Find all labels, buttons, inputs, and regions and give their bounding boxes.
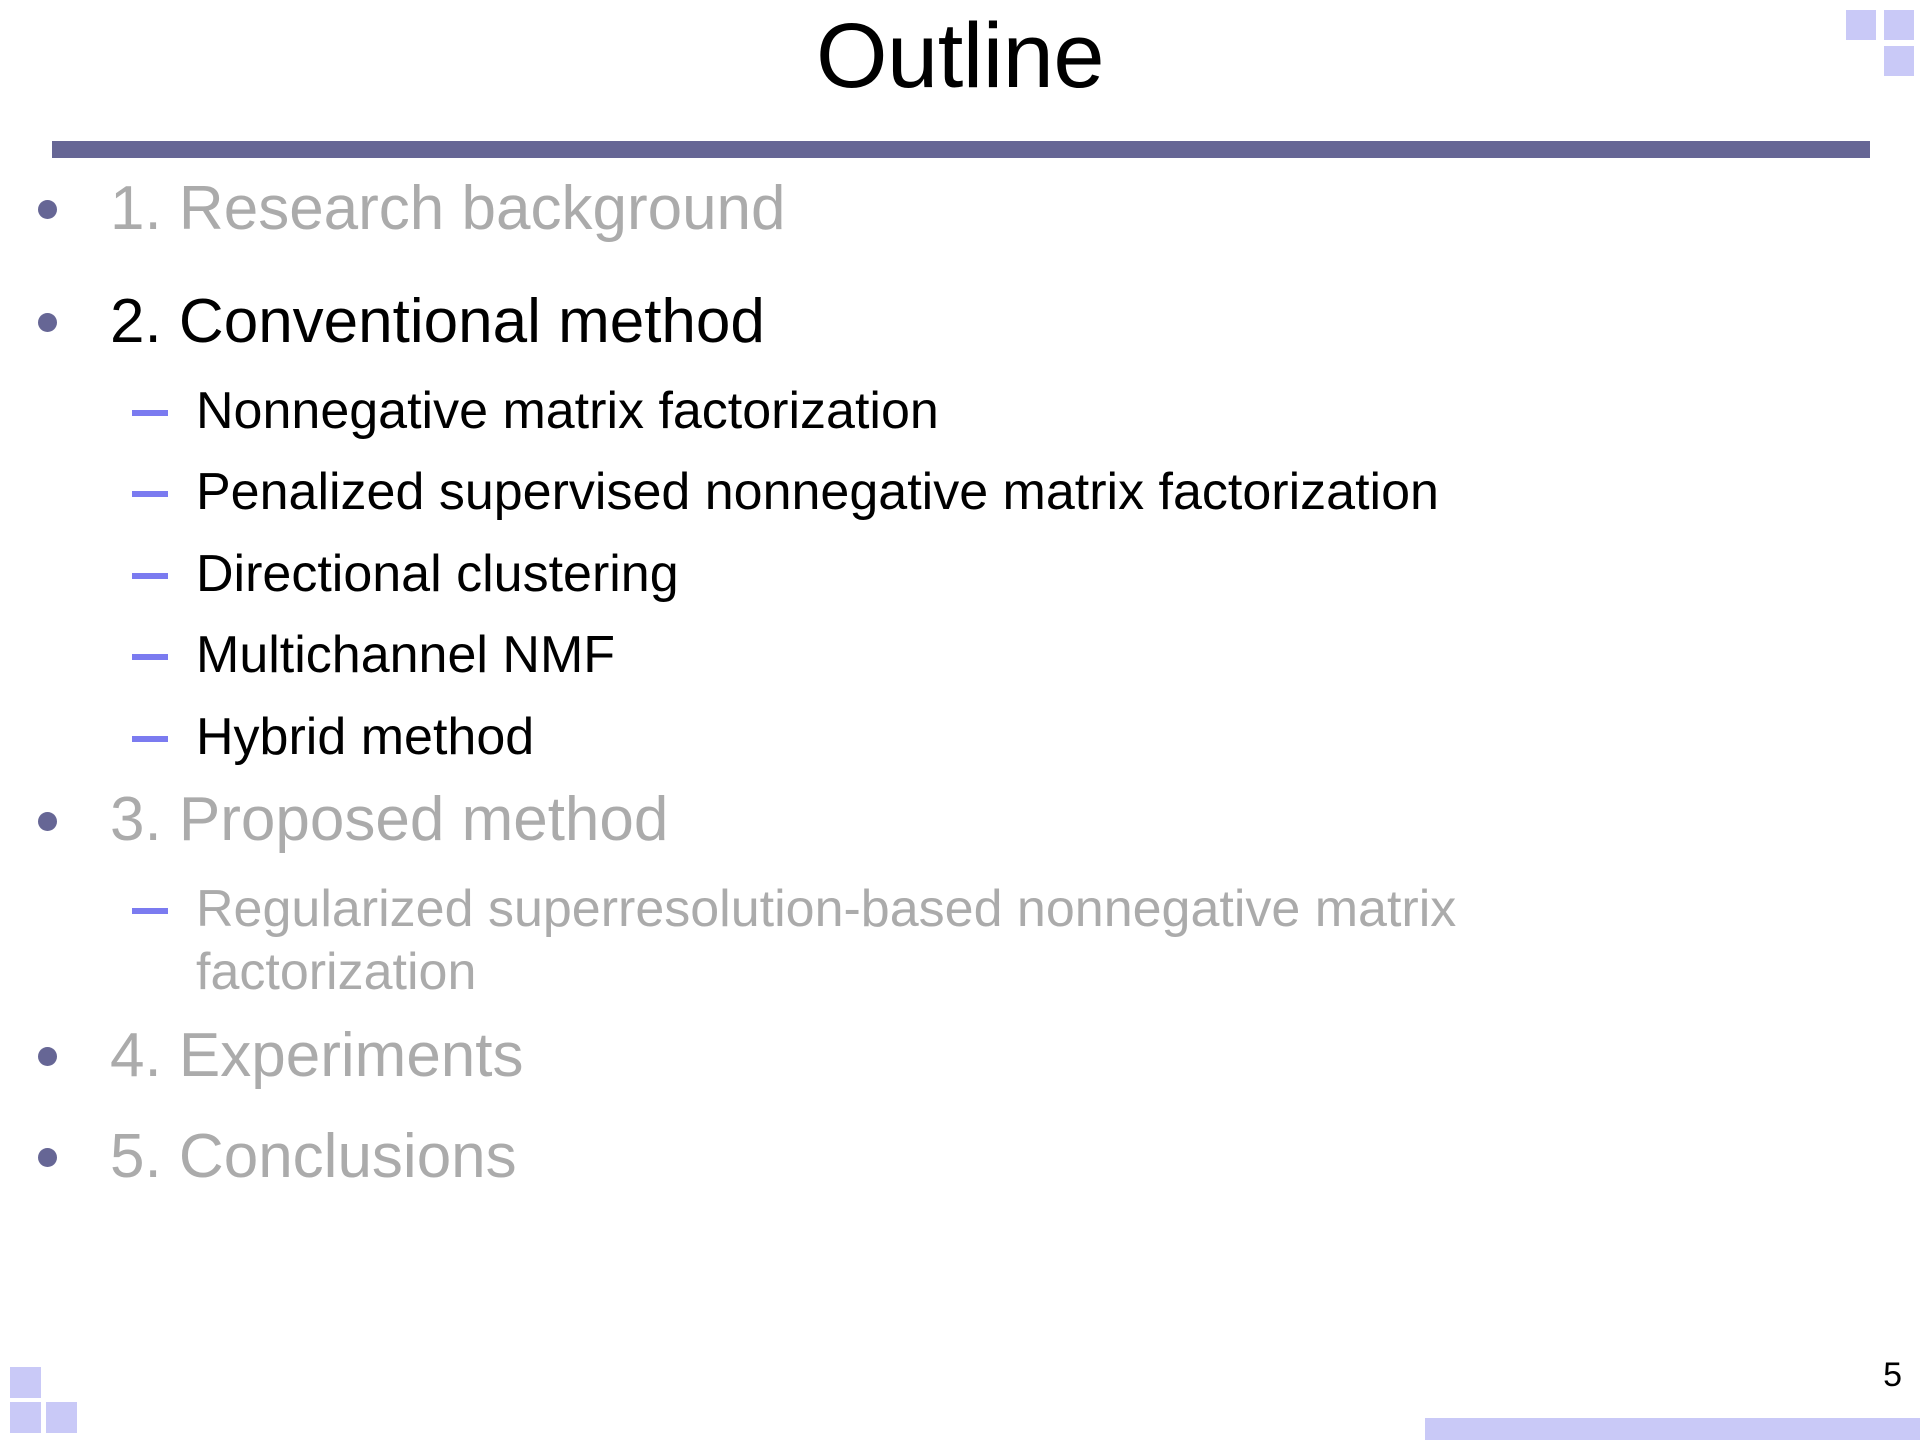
outline-item-label: 3. Proposed method [110, 785, 668, 854]
decor-square-bottom-left-2 [10, 1402, 41, 1433]
outline-item-2[interactable]: 2. Conventional method [0, 289, 1870, 356]
sub-item-hybrid-method[interactable]: Hybrid method [0, 706, 1870, 769]
sub-item-label: Regularized superresolution-based nonneg… [196, 880, 1456, 1001]
bullet-dot-icon [38, 1148, 57, 1167]
page-number: 5 [1883, 1356, 1902, 1395]
outline-item-1[interactable]: 1. Research background [0, 176, 1870, 243]
sub-item-label: Penalized supervised nonnegative matrix … [196, 463, 1439, 521]
sub-item-label: Multichannel NMF [196, 626, 615, 684]
outline-item-3[interactable]: 3. Proposed method [0, 787, 1870, 854]
outline-item-label: 4. Experiments [110, 1021, 524, 1090]
sub-item-multichannel-nmf[interactable]: Multichannel NMF [0, 624, 1870, 687]
sub-item-regularized-superresolution-nmf[interactable]: Regularized superresolution-based nonneg… [0, 878, 1870, 1005]
outline-list: 1. Research background 2. Conventional m… [0, 176, 1870, 1215]
sub-item-label: Directional clustering [196, 545, 679, 603]
outline-item-5[interactable]: 5. Conclusions [0, 1124, 1870, 1191]
sub-list-proposed: Regularized superresolution-based nonneg… [0, 878, 1870, 1005]
dash-bullet-icon [132, 654, 168, 660]
dash-bullet-icon [132, 410, 168, 416]
spacer [0, 267, 1870, 289]
sub-item-penalized-supervised-nmf[interactable]: Penalized supervised nonnegative matrix … [0, 461, 1870, 524]
dash-bullet-icon [132, 573, 168, 579]
dash-bullet-icon [132, 736, 168, 742]
bullet-dot-icon [38, 200, 57, 219]
outline-item-label: 2. Conventional method [110, 287, 765, 356]
outline-item-4[interactable]: 4. Experiments [0, 1023, 1870, 1090]
outline-item-label: 5. Conclusions [110, 1122, 517, 1191]
sub-item-nonnegative-matrix-factorization[interactable]: Nonnegative matrix factorization [0, 380, 1870, 443]
slide-canvas: Outline 1. Research background 2. Conven… [0, 0, 1920, 1440]
dash-bullet-icon [132, 908, 168, 914]
sub-list-conventional: Nonnegative matrix factorization Penaliz… [0, 380, 1870, 769]
dash-bullet-icon [132, 491, 168, 497]
bullet-dot-icon [38, 1047, 57, 1066]
sub-item-directional-clustering[interactable]: Directional clustering [0, 543, 1870, 606]
outline-item-label: 1. Research background [110, 174, 786, 243]
bullet-dot-icon [38, 812, 57, 831]
title-divider-rule [52, 141, 1870, 158]
bullet-dot-icon [38, 313, 57, 332]
decor-square-bottom-left-3 [46, 1402, 77, 1433]
sub-item-label: Hybrid method [196, 708, 534, 766]
sub-item-label: Nonnegative matrix factorization [196, 382, 939, 440]
page-title: Outline [0, 8, 1920, 105]
decor-square-bottom-left-1 [10, 1367, 41, 1398]
footer-accent-bar [1425, 1418, 1920, 1440]
